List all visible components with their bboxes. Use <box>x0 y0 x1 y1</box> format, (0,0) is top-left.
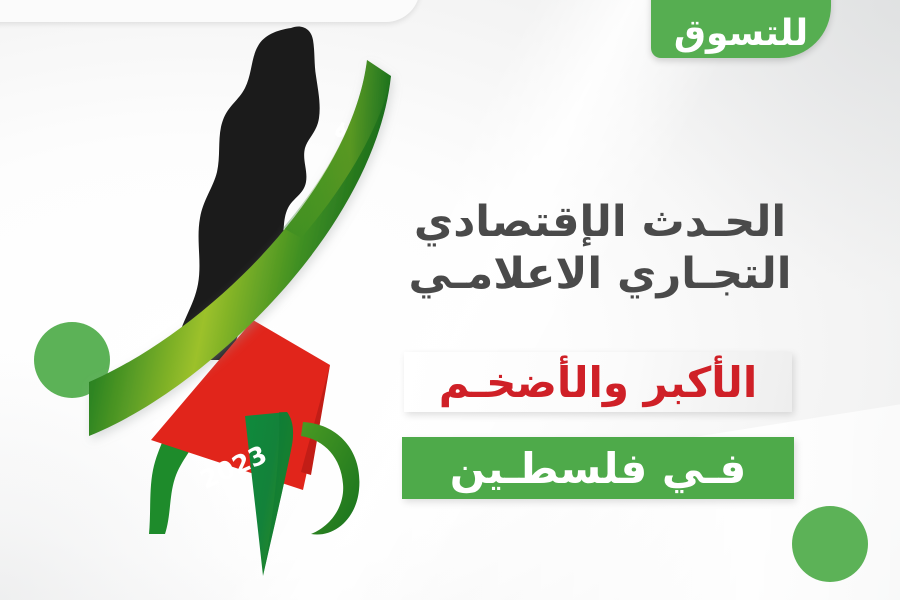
emphasis-bar-red-label: الأكبر والأضخـم <box>439 358 757 407</box>
top-tab-label: للتسوق <box>674 16 808 52</box>
green-circle-right <box>792 506 868 582</box>
headline-line-2: التجـاري الاعلامـي <box>380 248 820 300</box>
header-card: Palestine Shopping Festival <box>0 0 420 22</box>
top-right-green-tab: للتسوق <box>651 0 831 58</box>
emphasis-bar-red: الأكبر والأضخـم <box>404 352 792 412</box>
headline-line-1: الحـدث الإقتصادي <box>380 196 820 248</box>
palestine-emblem: مهرجان فلسطين للتسوق 2023 <box>95 20 435 590</box>
emphasis-bar-green-label: فـي فلسطـين <box>450 444 747 493</box>
headline-block: الحـدث الإقتصادي التجـاري الاعلامـي <box>380 196 820 301</box>
poster-canvas: Palestine Shopping Festival للتسوق <box>0 0 900 600</box>
emphasis-bar-green: فـي فلسطـين <box>402 437 794 499</box>
